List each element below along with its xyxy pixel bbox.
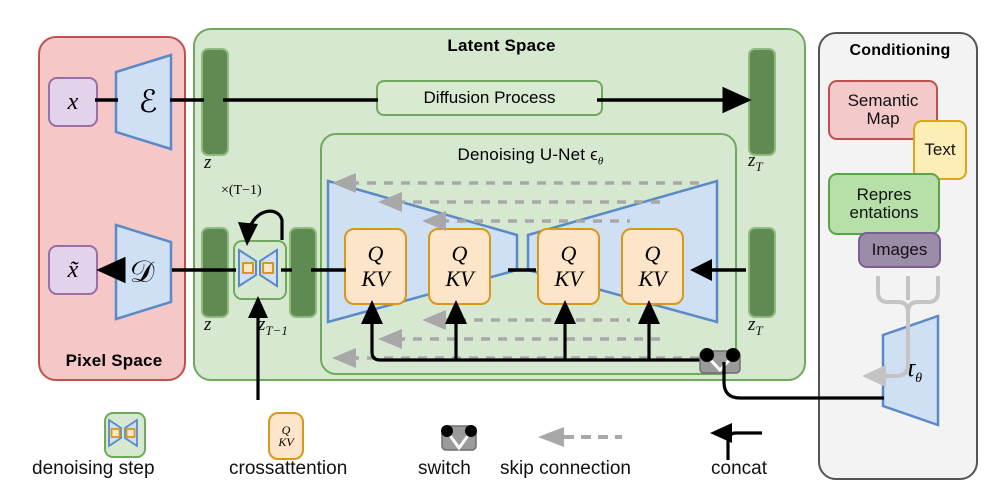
latent-bar-zt-bottom-label: zT <box>748 314 763 339</box>
conditioning-chip-images[interactable]: Images <box>858 232 941 268</box>
crossattention-q-4: Q <box>645 243 661 265</box>
legend-denoising-step-label: denoising step <box>32 458 155 480</box>
crossattention-kv-3: KV <box>554 268 582 290</box>
latent-bar-z-prev <box>289 227 317 318</box>
crossattention-kv-4: KV <box>638 268 666 290</box>
latent-bar-z-bottom <box>201 227 229 318</box>
crossattention-q-3: Q <box>561 243 577 265</box>
crossattention-block-4: Q KV <box>621 228 684 305</box>
conditioning-chip-images-label: Images <box>872 241 928 259</box>
decoder-label-wrap: 𝒟 <box>113 222 175 322</box>
latent-bar-z-bottom-label: z <box>204 314 211 336</box>
conditioning-encoder-label-wrap: τθ <box>880 313 942 428</box>
legend-switch-label: switch <box>418 458 471 480</box>
crossattention-kv-2: KV <box>445 268 473 290</box>
unet-title-subscript: θ <box>598 155 604 167</box>
legend-skip-connection-label: skip connection <box>500 458 631 480</box>
latent-bar-zt-top <box>748 48 776 156</box>
decoder-label: 𝒟 <box>130 254 159 291</box>
conditioning-chip-representations[interactable]: Repres entations <box>828 173 940 235</box>
loop-count-label: ×(T−1) <box>221 183 262 199</box>
latent-bar-zt-bottom <box>748 227 776 318</box>
legend-crossattention-label: crossattention <box>229 458 347 480</box>
legend-denoising-step-icon <box>104 412 146 458</box>
input-image-label: x <box>68 89 79 116</box>
crossattention-block-1: Q KV <box>344 228 407 305</box>
diffusion-process-label: Diffusion Process <box>424 88 556 108</box>
output-image-box: x̃ <box>48 245 98 295</box>
output-image-label: x̃ <box>68 257 79 284</box>
denoising-step-icon <box>233 240 287 300</box>
latent-space-title: Latent Space <box>195 36 808 56</box>
denoising-unet-title: Denoising U-Net ϵθ <box>322 145 739 167</box>
latent-bar-zt-top-label: zT <box>748 150 763 175</box>
legend-switch-icon <box>440 422 478 459</box>
crossattention-block-3: Q KV <box>537 228 600 305</box>
crossattention-q-1: Q <box>368 243 384 265</box>
crossattention-block-2: Q KV <box>428 228 491 305</box>
crossattention-kv-1: KV <box>361 268 389 290</box>
legend-skip-connection-icon <box>534 425 626 454</box>
unet-title-text: Denoising U-Net ϵ <box>458 145 598 164</box>
latent-bar-z-prev-label: zT−1 <box>258 314 288 339</box>
legend-crossattention-kv: KV <box>278 436 293 448</box>
encoder-label: ℰ <box>131 84 158 120</box>
latent-bar-z-top <box>201 48 229 156</box>
legend-concat-label: concat <box>711 458 767 480</box>
diffusion-process-box: Diffusion Process <box>376 80 603 116</box>
conditioning-chip-text-label: Text <box>924 141 955 159</box>
diagram-canvas: Pixel Space Latent Space Denoising U-Net… <box>0 0 995 496</box>
conditioning-encoder-label: τθ <box>900 353 922 387</box>
conditioning-title: Conditioning <box>820 42 980 60</box>
input-image-box: x <box>48 77 98 127</box>
conditioning-chip-representations-label: Repres entations <box>834 186 934 222</box>
encoder-label-wrap: ℰ <box>113 52 175 152</box>
legend-crossattention-icon: Q KV <box>268 412 304 460</box>
crossattention-q-2: Q <box>452 243 468 265</box>
latent-bar-z-top-label: z <box>204 152 211 174</box>
conditioning-chip-text[interactable]: Text <box>913 120 967 180</box>
pixel-space-title: Pixel Space <box>40 351 188 371</box>
